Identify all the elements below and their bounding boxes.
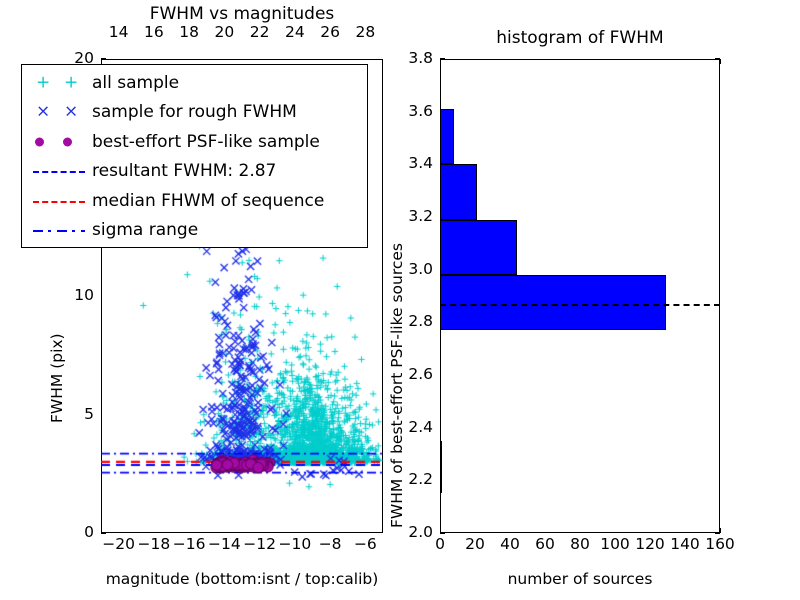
tick-label: −12: [243, 537, 276, 553]
tick-label: 40: [500, 537, 520, 553]
tick-label: 2.8: [408, 314, 433, 330]
histogram-bar[interactable]: [440, 441, 442, 494]
tick-label: −16: [173, 537, 206, 553]
tick-label: 2.6: [408, 367, 433, 383]
tick-label: 80: [570, 537, 590, 553]
tick-label: 26: [320, 25, 340, 41]
legend-psf-like[interactable]: best-effort PSF-like sample: [22, 127, 367, 157]
tick-label: 10: [74, 288, 94, 304]
tick-label: 28: [356, 25, 376, 41]
legend-sigma-range[interactable]: sigma range: [22, 216, 367, 246]
legend-item-label: resultant FWHM: 2.87: [90, 161, 276, 181]
tick-label: 0: [435, 537, 445, 553]
tick-label: −8: [319, 537, 342, 553]
tick-label: −6: [354, 537, 377, 553]
left-plot-title: FWHM vs magnitudes: [101, 4, 383, 24]
tick-label: 140: [670, 537, 700, 553]
histogram-bar[interactable]: [440, 109, 454, 164]
legend-box: ++all sample××sample for rough FWHMbest-…: [21, 64, 368, 248]
histogram-bar[interactable]: [440, 164, 477, 219]
legend-item-label: sample for rough FWHM: [90, 102, 297, 122]
tick-label: −10: [279, 537, 312, 553]
left-y-axis-title: FWHM (pix): [48, 333, 66, 423]
tick-label: −18: [138, 537, 171, 553]
legend-marker-dashed-line-icon: [28, 158, 90, 184]
right-y-axis-title: FWHM of best-effort PSF-like sources: [388, 243, 406, 528]
right-plot-title: histogram of FWHM: [440, 28, 720, 48]
tick-label: 22: [250, 25, 270, 41]
right-x-axis-title: number of sources: [440, 570, 720, 588]
legend-item-label: sigma range: [90, 220, 198, 240]
legend-item-label: all sample: [90, 73, 179, 93]
tick-label: −14: [208, 537, 241, 553]
tick-label: 2.0: [408, 525, 433, 541]
legend-all-sample[interactable]: ++all sample: [22, 68, 367, 98]
histogram-bar[interactable]: [440, 220, 517, 275]
tick-label: 2.2: [408, 472, 433, 488]
tick-label: 3.4: [408, 156, 433, 172]
legend-marker-dashdot-line-icon: [28, 217, 90, 243]
tick-label: 14: [109, 25, 129, 41]
tick-label: 0: [84, 525, 94, 541]
tick-label: 5: [84, 407, 94, 423]
tick-label: 160: [705, 537, 735, 553]
tick-label: 20: [215, 25, 235, 41]
tick-label: 3.6: [408, 104, 433, 120]
legend-rough-fwhm[interactable]: ××sample for rough FWHM: [22, 98, 367, 128]
tick-label: 120: [635, 537, 665, 553]
figure-root: FWHM vs magnitudes 1416182022242628 −20−…: [0, 0, 800, 600]
tick-label: 18: [179, 25, 199, 41]
legend-resultant-fwhm[interactable]: resultant FWHM: 2.87: [22, 157, 367, 187]
tick-label: 24: [285, 25, 305, 41]
legend-marker-cross-icon: ××: [28, 99, 90, 125]
legend-item-label: best-effort PSF-like sample: [90, 132, 320, 152]
tick-label: 16: [144, 25, 164, 41]
legend-marker-plus-icon: ++: [28, 70, 90, 96]
tick-label: 3.8: [408, 51, 433, 67]
legend-marker-dot-icon: [28, 129, 90, 155]
tick-label: 100: [600, 537, 630, 553]
tick-label: 2.4: [408, 420, 433, 436]
legend-item-label: median FHWM of sequence: [90, 191, 324, 211]
legend-median-fhwm[interactable]: median FHWM of sequence: [22, 186, 367, 216]
tick-label: 60: [535, 537, 555, 553]
legend-marker-dashed-line-icon: [28, 188, 90, 214]
histogram-bar[interactable]: [440, 275, 666, 330]
histogram-resultant-fwhm-line: [440, 304, 720, 306]
tick-label: 3.0: [408, 262, 433, 278]
left-x-axis-title: magnitude (bottom:isnt / top:calib): [101, 570, 383, 588]
tick-label: 20: [465, 537, 485, 553]
tick-label: 3.2: [408, 209, 433, 225]
tick-label: −20: [102, 537, 135, 553]
